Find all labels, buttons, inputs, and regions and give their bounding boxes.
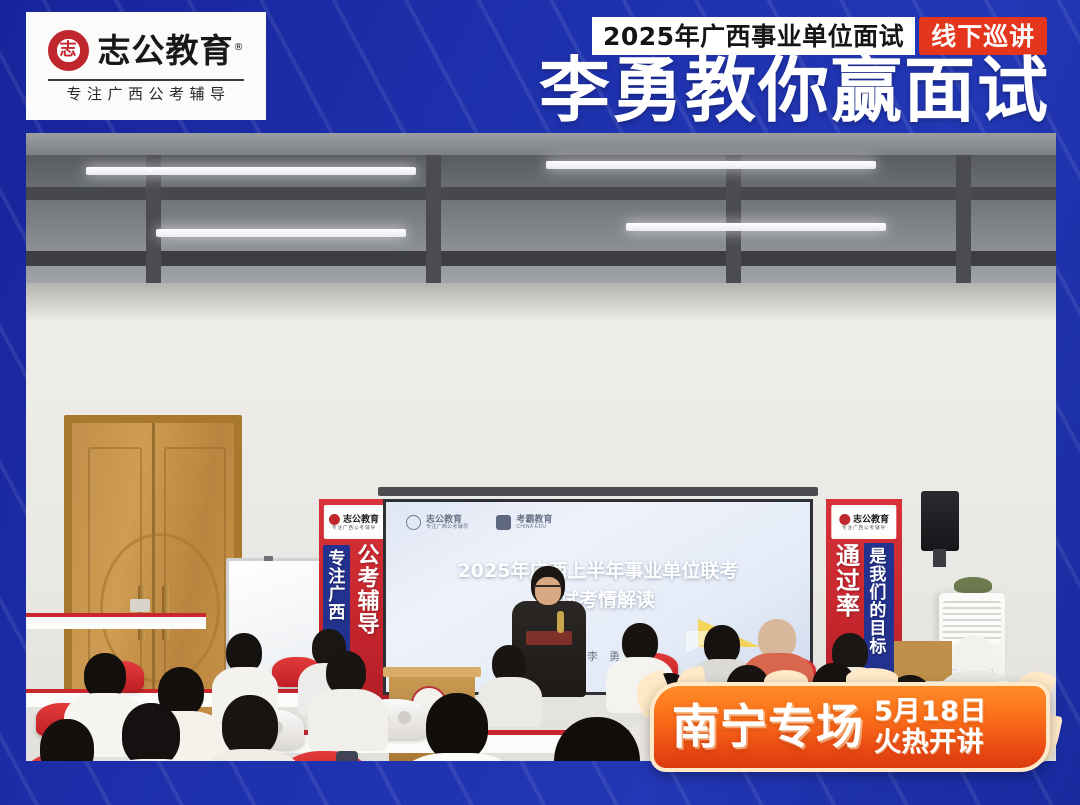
slide-logo2-sub: CHINA EDU: [516, 525, 552, 530]
banner-left-text-red: 公考辅导: [355, 543, 377, 635]
water-bottle: [336, 751, 358, 761]
ribbon-city: 南宁专场: [672, 704, 864, 751]
ceiling-light: [626, 223, 886, 231]
banner-right-text-red: 通过率: [832, 543, 856, 618]
banner-seal-icon: [839, 514, 850, 525]
whiteboard-clip: [264, 556, 273, 561]
screen-rail: [378, 487, 818, 496]
event-photo: 志公教育 专注广西公考辅导 专注广西 公考辅导 志公教育专注广西公考辅导 考霸教…: [26, 133, 1056, 761]
ceiling-beam: [26, 251, 1056, 266]
wall-shadow: [26, 283, 1056, 323]
wall-speaker-icon: [921, 491, 959, 551]
ribbon-slogan: 火热开讲: [874, 728, 987, 757]
brand-seal-char: 志: [60, 42, 77, 59]
slide-logo1-name: 志公教育专注广西公考辅导: [426, 515, 468, 530]
ceiling-beam: [26, 187, 1056, 200]
banner-right-header: 志公教育 专注广西公考辅导: [831, 505, 896, 539]
slide-title: 2025年广西上半年事业单位联考 面试考情解读: [386, 557, 810, 616]
event-ribbon-wrap: 南宁专场 5月18日 火热开讲: [636, 668, 1066, 786]
slide-logo-row: 志公教育专注广西公考辅导 考霸教育CHINA EDU: [406, 515, 552, 530]
ribbon-date: 5月18日: [874, 697, 987, 726]
poster-root: 志 志公教育® 专注广西公考辅导 2025年广西事业单位面试 线下巡讲 李勇教你…: [0, 0, 1080, 805]
microphone-icon: [557, 611, 564, 633]
banner-left-header: 志公教育 专注广西公考辅导: [324, 505, 384, 539]
speaker-shirt-print: [526, 631, 572, 645]
banner-left-brand-row: 志公教育: [329, 514, 379, 525]
speaker-glasses-icon: [534, 585, 562, 593]
plant-decor: [954, 577, 992, 593]
banner-right-text-blue: 是我们的目标: [867, 547, 884, 655]
brand-logo-card: 志 志公教育® 专注广西公考辅导: [26, 12, 266, 120]
ceiling-beam: [956, 133, 971, 291]
ceiling-beam: [426, 133, 441, 291]
desk-edge: [26, 613, 206, 617]
banner-left-brand: 志公教育: [343, 515, 379, 524]
event-ribbon: 南宁专场 5月18日 火热开讲: [650, 682, 1050, 772]
banner-right-brand-row: 志公教育: [839, 514, 889, 525]
slide-byline: 主讲人 李 勇 老师: [386, 648, 810, 664]
ceiling: [26, 133, 1056, 291]
ceiling-beam: [726, 133, 741, 291]
ceiling-beam: [146, 133, 161, 291]
banner-left-text-blue: 专注广西: [326, 549, 343, 621]
ceiling-light: [86, 167, 416, 175]
slide-logo1-sub: 专注广西公考辅导: [426, 525, 468, 530]
page-title: 李勇教你赢面试: [539, 55, 1050, 126]
ceiling-light: [156, 229, 406, 237]
desk-row: [26, 615, 206, 629]
banner-right-sub: 专注广西公考辅导: [842, 526, 886, 531]
door-split: [152, 423, 155, 715]
brand-name: 志公教育®: [98, 34, 245, 67]
chair-hole: [398, 711, 411, 724]
slide-logo2-name: 考霸教育CHINA EDU: [516, 515, 552, 530]
logo-divider: [48, 79, 244, 81]
door-lockplate: [130, 599, 150, 612]
brand-seal-icon: 志: [48, 30, 89, 71]
slide-logo-kaoba: 考霸教育CHINA EDU: [496, 515, 552, 530]
brand-tagline: 专注广西公考辅导: [61, 87, 230, 102]
slide-title-line1: 2025年广西上半年事业单位联考: [386, 557, 810, 586]
podium-top: [383, 667, 481, 677]
banner-right-brand: 志公教育: [853, 515, 889, 524]
ribbon-detail: 5月18日 火热开讲: [874, 697, 987, 757]
slide-logo-zhigong: 志公教育专注广西公考辅导: [406, 515, 468, 530]
ceiling-light: [546, 161, 876, 169]
speaker-mount: [933, 549, 946, 567]
slide-logo2-mark-icon: [496, 515, 511, 530]
banner-seal-icon: [329, 514, 340, 525]
slide-title-line2: 面试考情解读: [386, 586, 810, 615]
brand-logo-row: 志 志公教育®: [48, 30, 245, 71]
ceiling-duct: [26, 133, 1056, 155]
registered-icon: ®: [234, 42, 245, 53]
banner-left-sub: 专注广西公考辅导: [332, 526, 376, 531]
slide-logo-mark-icon: [406, 515, 421, 530]
